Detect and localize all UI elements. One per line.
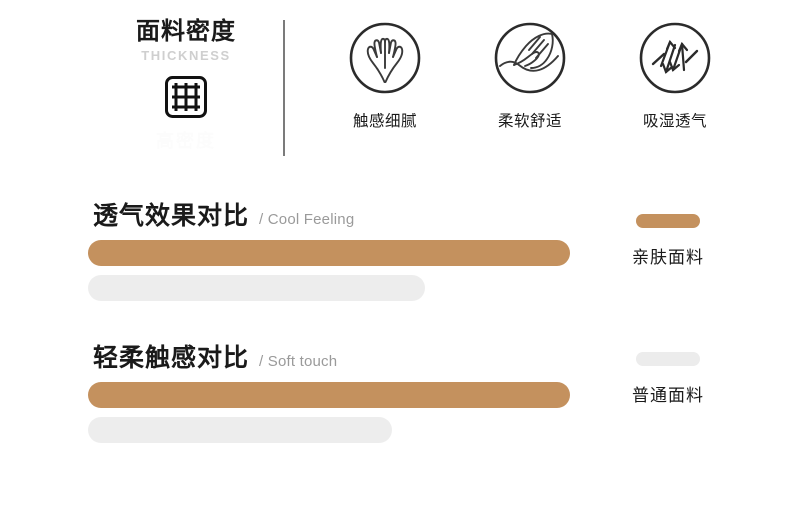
feature-icon-list: 触感细腻 柔软舒适 <box>320 20 740 131</box>
thickness-ghost-text: 高密度 <box>96 127 276 153</box>
airflow-arrows-circle-icon <box>637 20 713 96</box>
feature-item-0: 触感细腻 <box>320 20 450 131</box>
legend-item-secondary: 普通面料 <box>588 352 748 406</box>
chart-title-en-1: / Soft touch <box>259 353 337 370</box>
bar-secondary-1 <box>88 417 392 443</box>
legend-swatch-secondary <box>636 352 700 366</box>
chart-title-cn-0: 透气效果对比 <box>93 196 249 232</box>
legend-item-primary: 亲肤面料 <box>588 214 748 268</box>
chart-bars-1 <box>88 382 570 443</box>
chart-heading-1: 轻柔触感对比 / Soft touch <box>93 338 337 374</box>
feature-header-section: 面料密度 THICKNESS 高密度 <box>0 0 790 175</box>
chart-heading-0: 透气效果对比 / Cool Feeling <box>93 196 354 232</box>
bar-primary-0 <box>88 240 570 266</box>
hands-circle-icon <box>347 20 423 96</box>
legend-label-primary: 亲肤面料 <box>588 243 748 268</box>
vertical-divider <box>283 20 285 156</box>
bar-secondary-0 <box>88 275 425 301</box>
legend-swatch-primary <box>636 214 700 228</box>
hand-on-fabric-circle-icon <box>492 20 568 96</box>
chart-title-en-0: / Cool Feeling <box>259 211 354 228</box>
feature-item-2: 吸湿透气 <box>610 20 740 131</box>
fabric-grid-icon <box>162 73 210 121</box>
chart-title-cn-1: 轻柔触感对比 <box>93 338 249 374</box>
bar-primary-1 <box>88 382 570 408</box>
feature-label-2: 吸湿透气 <box>610 109 740 131</box>
thickness-block: 面料密度 THICKNESS 高密度 <box>96 18 276 153</box>
chart-bars-0 <box>88 240 570 301</box>
legend-label-secondary: 普通面料 <box>588 381 748 406</box>
feature-label-1: 柔软舒适 <box>465 109 595 131</box>
thickness-subtitle: THICKNESS <box>96 48 276 63</box>
feature-item-1: 柔软舒适 <box>465 20 595 131</box>
thickness-title: 面料密度 <box>96 18 276 46</box>
feature-label-0: 触感细腻 <box>320 109 450 131</box>
